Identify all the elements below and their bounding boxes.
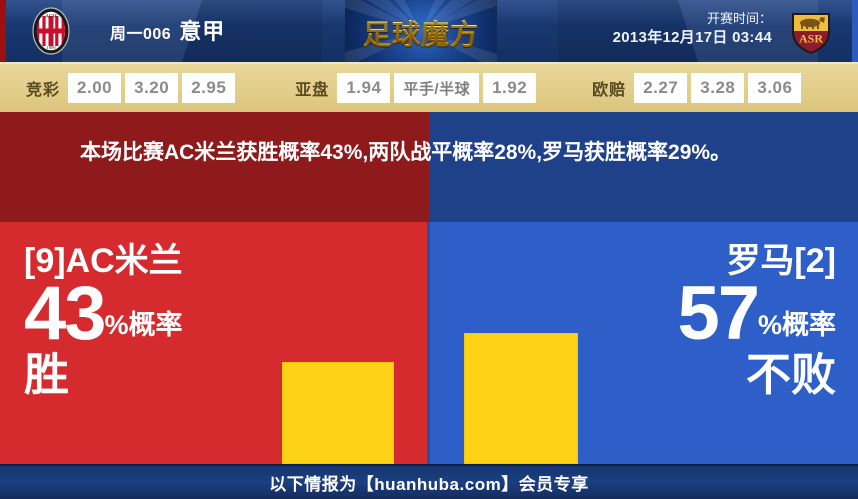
away-team-block: 罗马[2] 57 %概率 不败 <box>677 244 836 397</box>
footer-text: 以下情报为【huanhuba.com】会员专享 <box>269 470 588 495</box>
odds-value-oupei-draw[interactable]: 3.28 <box>691 73 744 103</box>
home-outcome-label: 胜 <box>24 352 183 397</box>
home-percent-row: 43 %概率 <box>24 281 183 348</box>
home-team-block: [9]AC米兰 43 %概率 胜 <box>24 244 183 397</box>
match-round: 周一006 <box>110 20 171 44</box>
kickoff-label: 开赛时间： <box>613 10 772 28</box>
odds-group-jingcai: 竞彩 2.00 3.20 2.95 <box>18 73 239 103</box>
ac-milan-crest-icon: ACM 1899 <box>26 6 76 56</box>
away-percent-unit: %概率 <box>758 312 836 348</box>
probability-summary-text: 本场比赛AC米兰获胜概率43%,两队战平概率28%,罗马获胜概率29%。 <box>80 137 780 170</box>
home-percent-unit: %概率 <box>105 312 183 348</box>
odds-value-oupei-home[interactable]: 2.27 <box>634 73 687 103</box>
odds-label-jingcai: 竞彩 <box>18 76 68 100</box>
site-logo[interactable]: 足球魔方 <box>345 0 497 62</box>
svg-text:1899: 1899 <box>46 45 56 50</box>
away-outcome-label: 不败 <box>677 352 836 397</box>
odds-value-yapan-home[interactable]: 1.94 <box>337 73 390 103</box>
odds-value-jingcai-draw[interactable]: 3.20 <box>125 73 178 103</box>
home-probability-bar <box>282 362 394 464</box>
odds-label-oupei: 欧赔 <box>584 76 634 100</box>
odds-value-yapan-away[interactable]: 1.92 <box>483 73 536 103</box>
as-roma-crest-icon: ASR <box>786 6 836 56</box>
match-title: 周一006 意甲 <box>110 14 225 46</box>
away-percent-row: 57 %概率 <box>677 281 836 348</box>
odds-label-yapan: 亚盘 <box>287 76 337 100</box>
odds-value-jingcai-home[interactable]: 2.00 <box>68 73 121 103</box>
header-left-accent <box>0 0 6 62</box>
odds-value-oupei-away[interactable]: 3.06 <box>748 73 801 103</box>
probability-summary-band: 本场比赛AC米兰获胜概率43%,两队战平概率28%,罗马获胜概率29%。 <box>0 112 858 222</box>
footer-bar: 以下情报为【huanhuba.com】会员专享 <box>0 464 858 499</box>
odds-value-yapan-handicap[interactable]: 平手/半球 <box>394 73 479 103</box>
home-percent-value: 43 <box>24 281 105 348</box>
kickoff-info: 开赛时间： 2013年12月17日 03:44 <box>613 10 772 48</box>
odds-bar: 竞彩 2.00 3.20 2.95 亚盘 1.94 平手/半球 1.92 欧赔 … <box>0 62 858 112</box>
away-probability-bar <box>464 333 578 464</box>
away-percent-value: 57 <box>677 281 758 348</box>
kickoff-value: 2013年12月17日 03:44 <box>613 28 772 48</box>
svg-text:ACM: ACM <box>45 15 57 20</box>
odds-group-oupei: 欧赔 2.27 3.28 3.06 <box>584 73 805 103</box>
panel-divider <box>427 222 430 464</box>
main-comparison: [9]AC米兰 43 %概率 胜 罗马[2] 57 %概率 不败 <box>0 222 858 464</box>
svg-text:ASR: ASR <box>799 32 823 46</box>
odds-group-yapan: 亚盘 1.94 平手/半球 1.92 <box>287 73 540 103</box>
match-league: 意甲 <box>179 14 225 46</box>
site-logo-text: 足球魔方 <box>345 13 497 53</box>
odds-value-jingcai-away[interactable]: 2.95 <box>182 73 235 103</box>
header-right-accent <box>852 0 858 62</box>
infographic-root: ACM 1899 周一006 意甲 <box>0 0 858 499</box>
header-bar: ACM 1899 周一006 意甲 <box>0 0 858 62</box>
